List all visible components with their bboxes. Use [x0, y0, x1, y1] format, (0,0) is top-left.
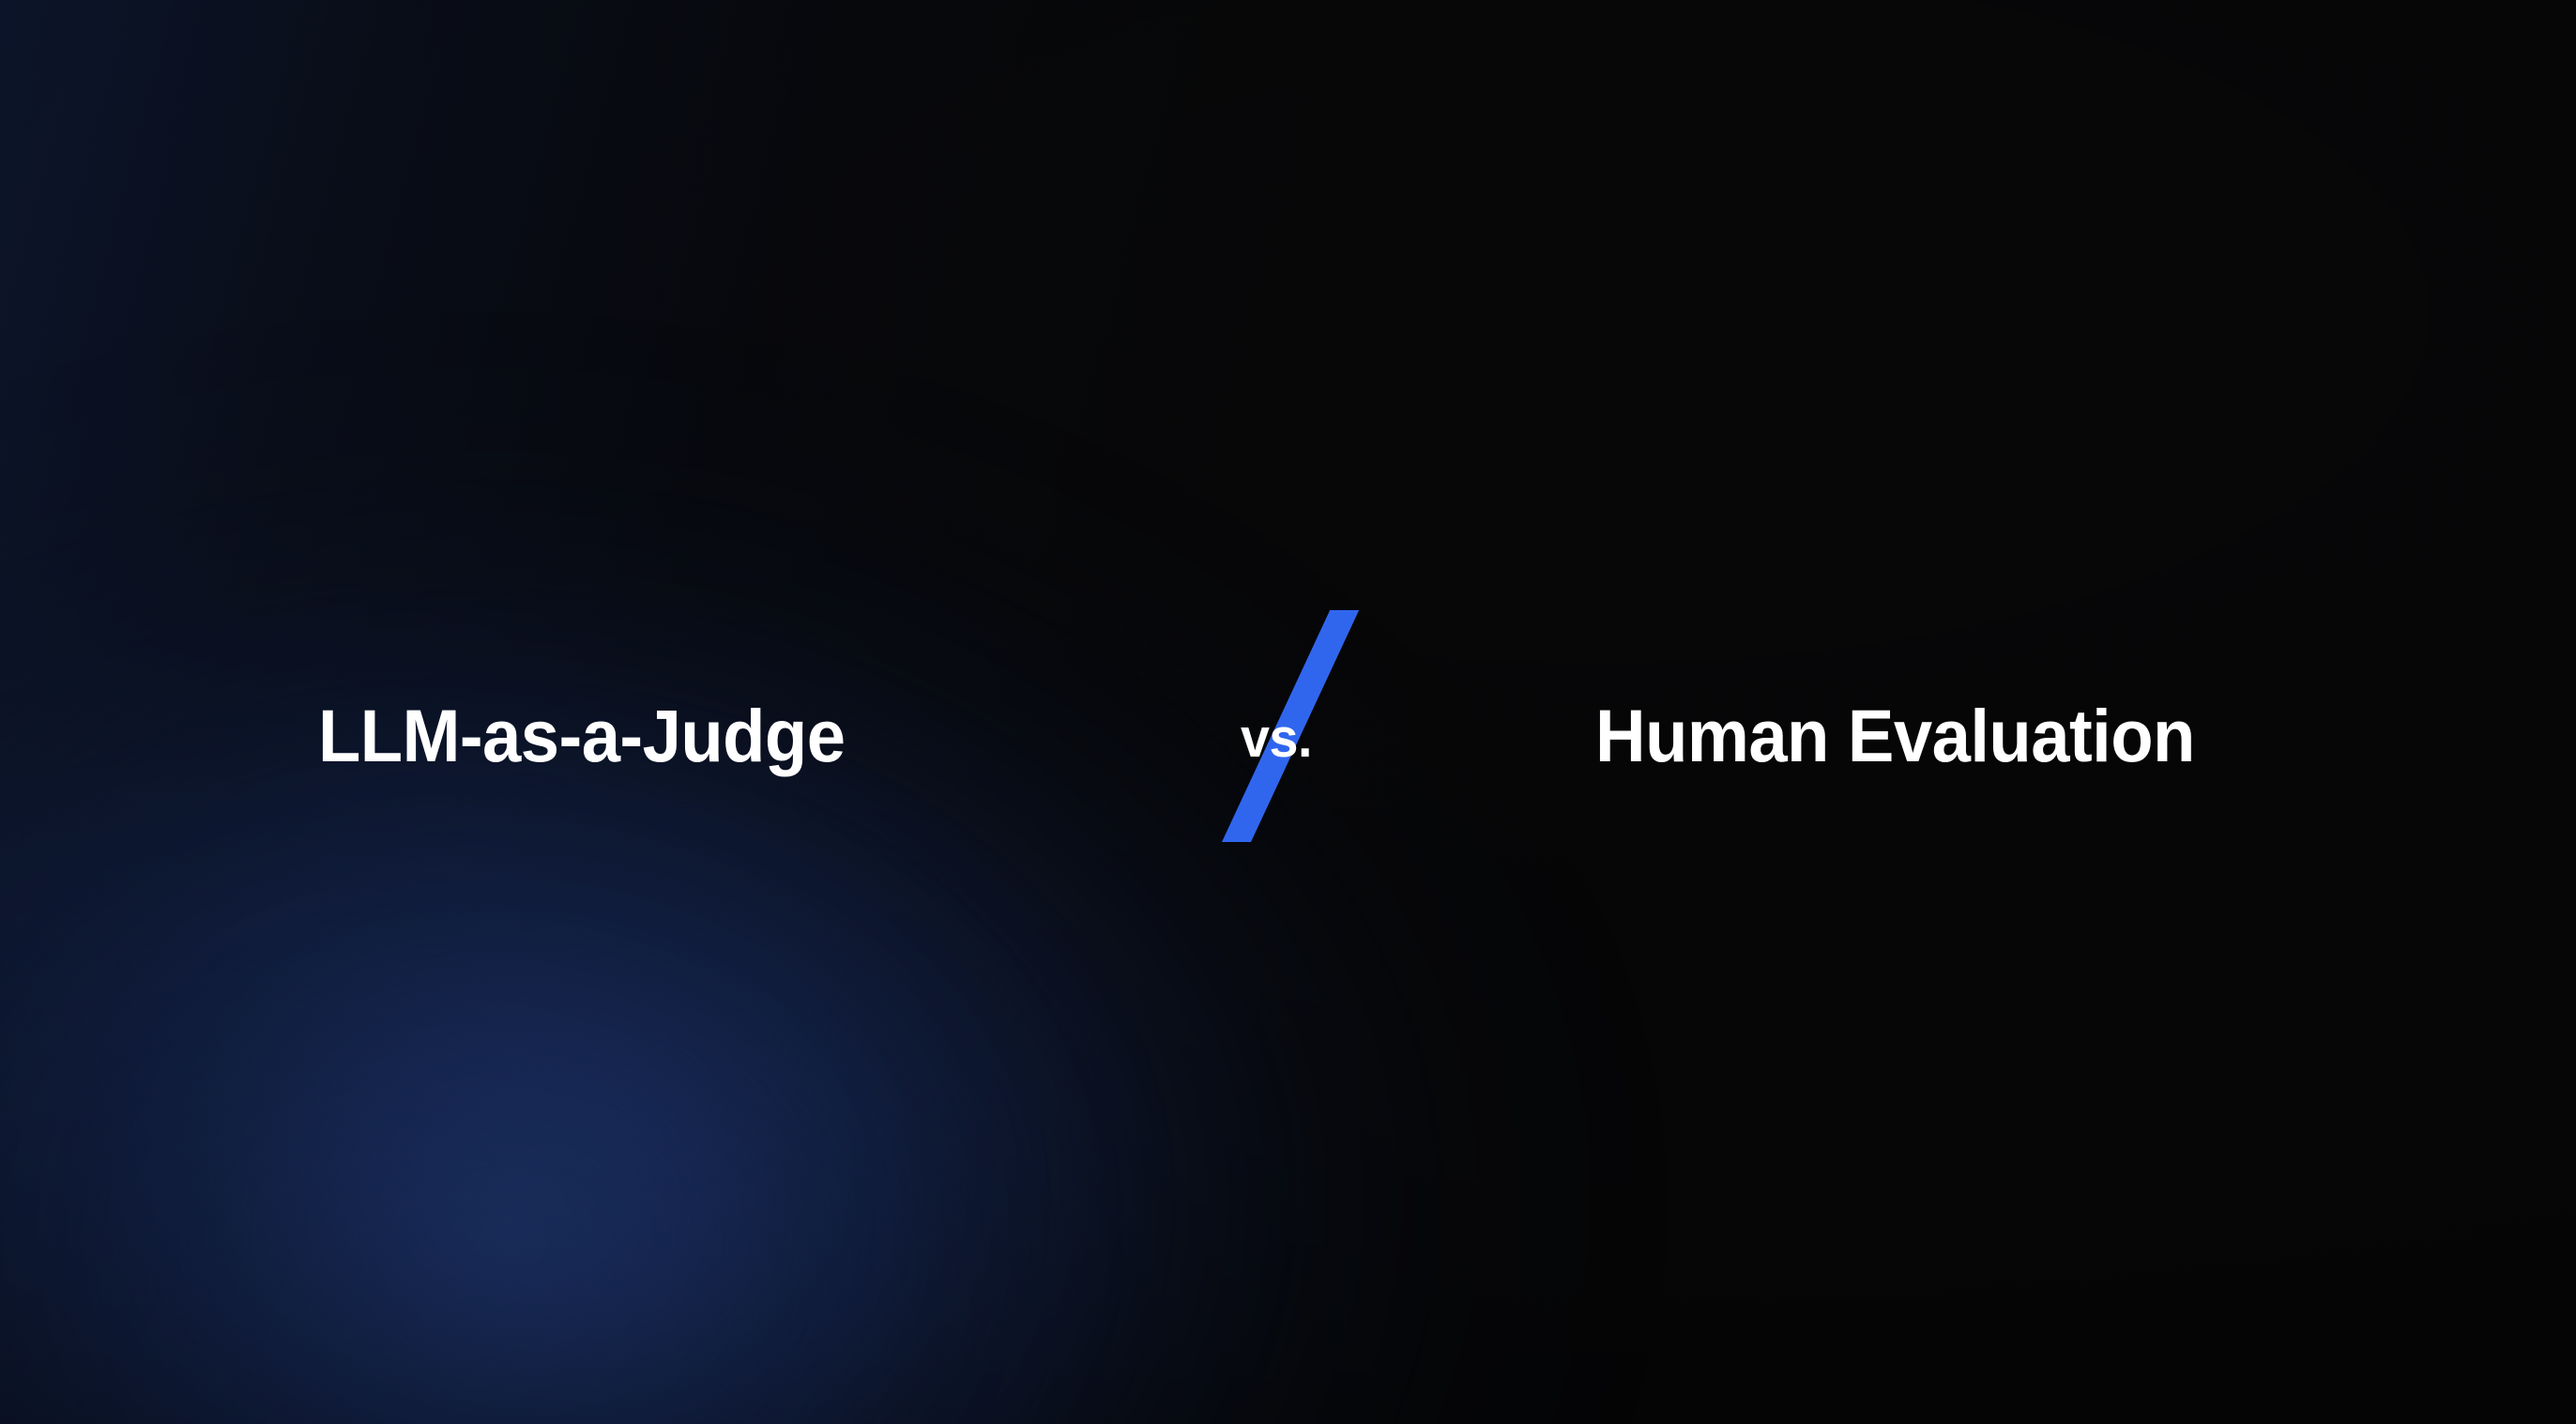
headline-left-term: LLM-as-a-Judge [318, 698, 845, 773]
headline-comparator: vs. [1241, 712, 1312, 766]
title-slide: LLM-as-a-Judge vs. Human Evaluation [0, 0, 2576, 1424]
headline-right-term: Human Evaluation [1595, 698, 2195, 773]
headline-row: LLM-as-a-Judge vs. Human Evaluation [0, 0, 2576, 1424]
